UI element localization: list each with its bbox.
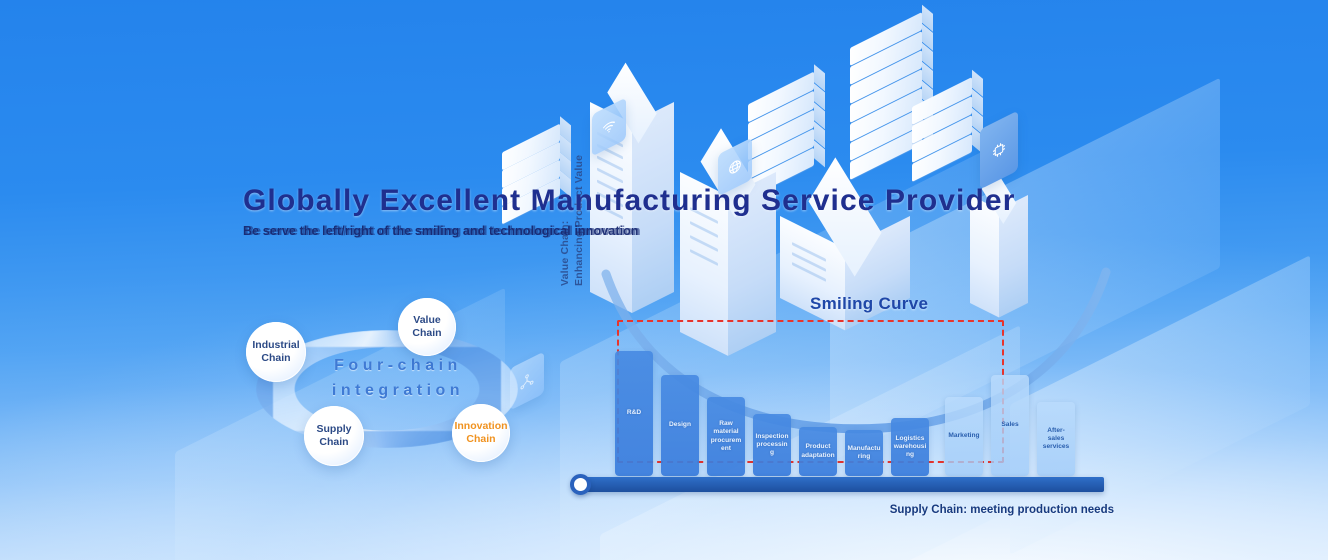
bubble-label-line1: Innovation — [454, 420, 507, 433]
bar-raw-material-procurement[interactable]: Raw material procurement — [707, 397, 745, 476]
bubble-label-line2: Chain — [466, 433, 495, 446]
bubble-label-line2: Chain — [412, 327, 441, 340]
page-title: Globally Excellent Manufacturing Service… — [243, 184, 1043, 218]
bubble-label-line2: Chain — [261, 352, 290, 365]
bubble-label-line1: Value — [413, 314, 440, 327]
bar-label: R&D — [625, 409, 643, 417]
four-chain-integration-diagram: Four-chain integration Industrial Chain … — [246, 296, 538, 478]
chip-icon — [980, 111, 1018, 190]
bar-logistics-warehousing[interactable]: Logistics warehousing — [891, 418, 929, 476]
bar-label: Manufacturing — [845, 445, 883, 461]
infographic-canvas: Globally Excellent Manufacturing Service… — [0, 0, 1328, 560]
supply-chain-annotation: Supply Chain: meeting production needs — [890, 504, 1114, 516]
headline-block: Globally Excellent Manufacturing Service… — [243, 184, 1043, 238]
bar-r-and-d[interactable]: R&D — [615, 351, 653, 476]
bar-product-adaptation[interactable]: Product adaptation — [799, 427, 837, 476]
page-subtitle-ghost: Be serve the left/right of the smiling a… — [245, 224, 641, 238]
bubble-value-chain[interactable]: Value Chain — [398, 298, 456, 356]
bar-label: Sales — [999, 421, 1020, 429]
bubble-innovation-chain[interactable]: Innovation Chain — [452, 404, 510, 462]
bar-label: After-sales services — [1037, 427, 1075, 452]
bar-design[interactable]: Design — [661, 375, 699, 476]
bar-manufacturing[interactable]: Manufacturing — [845, 430, 883, 476]
bar-label: Product adaptation — [799, 443, 837, 459]
bar-label: Marketing — [946, 432, 981, 440]
chart-title: Smiling Curve — [810, 294, 928, 314]
bubble-label-line1: Industrial — [252, 339, 299, 352]
bar-marketing[interactable]: Marketing — [945, 397, 983, 476]
four-chain-label-line1: Four-chain — [308, 354, 488, 379]
page-subtitle: Be serve the left/right of the smiling a… — [243, 224, 1043, 238]
bar-after-sales-services[interactable]: After-sales services — [1037, 402, 1075, 476]
axis-origin-marker — [570, 474, 591, 495]
bar-label: Raw material procurement — [707, 420, 745, 453]
smiling-curve-chart: Value Chain: Enhancing Product Value Smi… — [560, 262, 1120, 492]
bar-label: Design — [667, 421, 693, 429]
chart-bars: R&D Design Raw material procurement Insp… — [615, 316, 1075, 476]
bubble-label-line2: Chain — [319, 436, 348, 449]
bubble-label-line1: Supply — [316, 423, 351, 436]
chart-x-axis: Supply Chain: meeting production needs — [576, 477, 1104, 492]
bar-label: Inspection processing — [753, 433, 791, 458]
bubble-industrial-chain[interactable]: Industrial Chain — [246, 322, 306, 382]
bar-sales[interactable]: Sales — [991, 375, 1029, 476]
four-chain-label-line2: integration — [308, 379, 488, 404]
bubble-supply-chain[interactable]: Supply Chain — [304, 406, 364, 466]
four-chain-center-label: Four-chain integration — [308, 354, 488, 404]
bar-inspection-processing[interactable]: Inspection processing — [753, 414, 791, 476]
bar-label: Logistics warehousing — [891, 435, 929, 460]
